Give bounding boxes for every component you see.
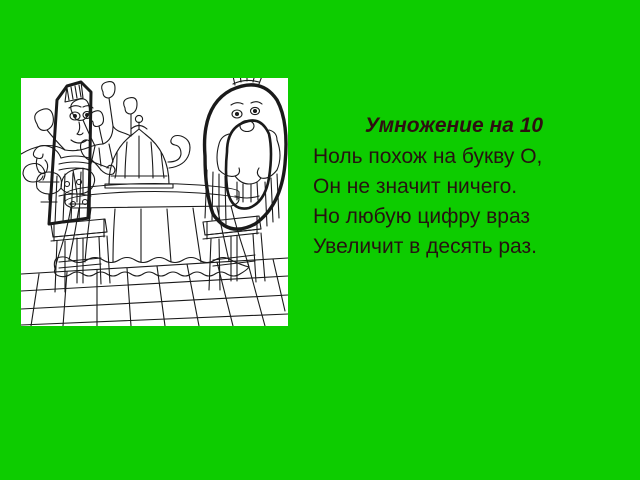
poem-text-block: Умножение на 10 Ноль похож на букву О, О… xyxy=(310,112,610,262)
poem-title: Умножение на 10 xyxy=(310,112,610,140)
cartoon-digits-illustration xyxy=(21,78,288,326)
illustration-panel xyxy=(21,78,288,326)
slide-canvas: Умножение на 10 Ноль похож на букву О, О… xyxy=(0,0,640,480)
poem-line-4: Увеличит в десять раз. xyxy=(310,232,610,262)
poem-line-3: Но любую цифру враз xyxy=(310,202,610,232)
poem-line-2: Он не значит ничего. xyxy=(310,172,610,202)
poem-line-1: Ноль похож на букву О, xyxy=(310,142,610,172)
